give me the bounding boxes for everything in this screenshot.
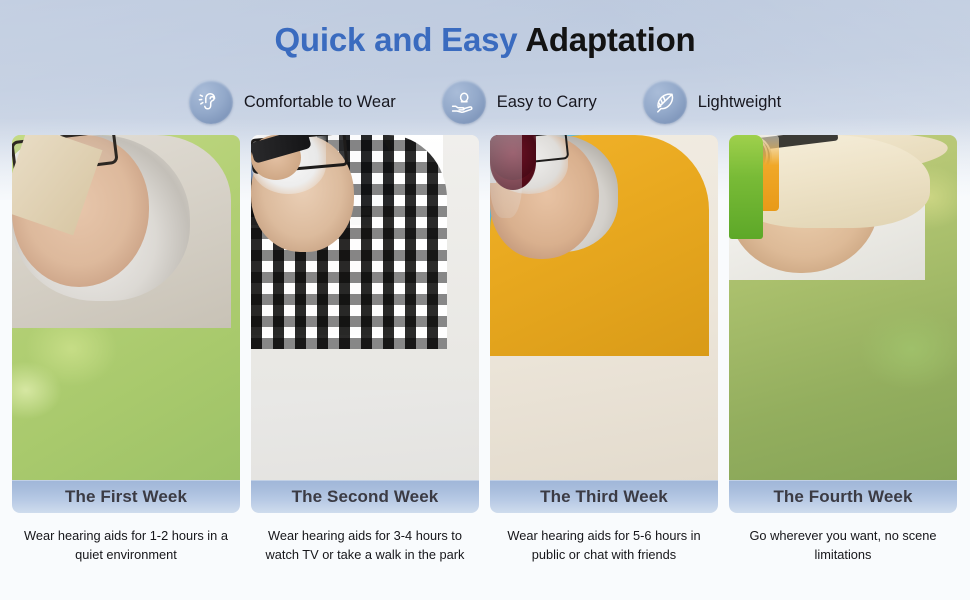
description-first-week: Wear hearing aids for 1-2 hours in a qui… bbox=[12, 526, 240, 564]
feature-label-comfortable-to-wear: Comfortable to Wear bbox=[244, 93, 396, 112]
caption-text-first-week: The First Week bbox=[65, 487, 187, 507]
caption-bar-fourth-week: The Fourth Week bbox=[729, 480, 957, 513]
feature-item-comfortable-to-wear: Comfortable to Wear bbox=[189, 76, 396, 128]
page-title-plain: Adaptation bbox=[517, 21, 695, 58]
caption-bar-third-week: The Third Week bbox=[490, 480, 718, 513]
description-third-week: Wear hearing aids for 5-6 hours in publi… bbox=[490, 526, 718, 564]
caption-bar-second-week: The Second Week bbox=[251, 480, 479, 513]
week-card-third: The Third Week Wear hearing aids for 5-6… bbox=[490, 135, 718, 564]
week-card-list: The First Week Wear hearing aids for 1-2… bbox=[12, 135, 958, 564]
week-card-second: The Second Week Wear hearing aids for 3-… bbox=[251, 135, 479, 564]
caption-text-fourth-week: The Fourth Week bbox=[773, 487, 912, 507]
hand-hearing-aid-icon bbox=[442, 80, 486, 124]
caption-text-third-week: The Third Week bbox=[540, 487, 668, 507]
caption-bar-first-week: The First Week bbox=[12, 480, 240, 513]
caption-text-second-week: The Second Week bbox=[292, 487, 439, 507]
feature-item-easy-to-carry: Easy to Carry bbox=[442, 76, 597, 128]
feature-list: Comfortable to Wear Easy to Carry bbox=[0, 76, 970, 128]
ear-icon bbox=[189, 80, 233, 124]
description-fourth-week: Go wherever you want, no scene limitatio… bbox=[729, 526, 957, 564]
adaptation-banner: Quick and Easy Adaptation Comfortable to… bbox=[0, 0, 970, 600]
photo-senior-man-straw-hat bbox=[729, 135, 957, 480]
photo-senior-man-tv-remote bbox=[251, 135, 479, 480]
photo-senior-couple-wine bbox=[490, 135, 718, 480]
feature-item-lightweight: Lightweight bbox=[643, 76, 781, 128]
feather-icon bbox=[643, 80, 687, 124]
page-title: Quick and Easy Adaptation bbox=[0, 20, 970, 60]
description-second-week: Wear hearing aids for 3-4 hours to watch… bbox=[251, 526, 479, 564]
week-card-fourth: The Fourth Week Go wherever you want, no… bbox=[729, 135, 957, 564]
week-card-first: The First Week Wear hearing aids for 1-2… bbox=[12, 135, 240, 564]
photo-senior-man-reading bbox=[12, 135, 240, 480]
page-title-accent: Quick and Easy bbox=[274, 21, 517, 58]
feature-label-lightweight: Lightweight bbox=[698, 93, 781, 112]
feature-label-easy-to-carry: Easy to Carry bbox=[497, 93, 597, 112]
